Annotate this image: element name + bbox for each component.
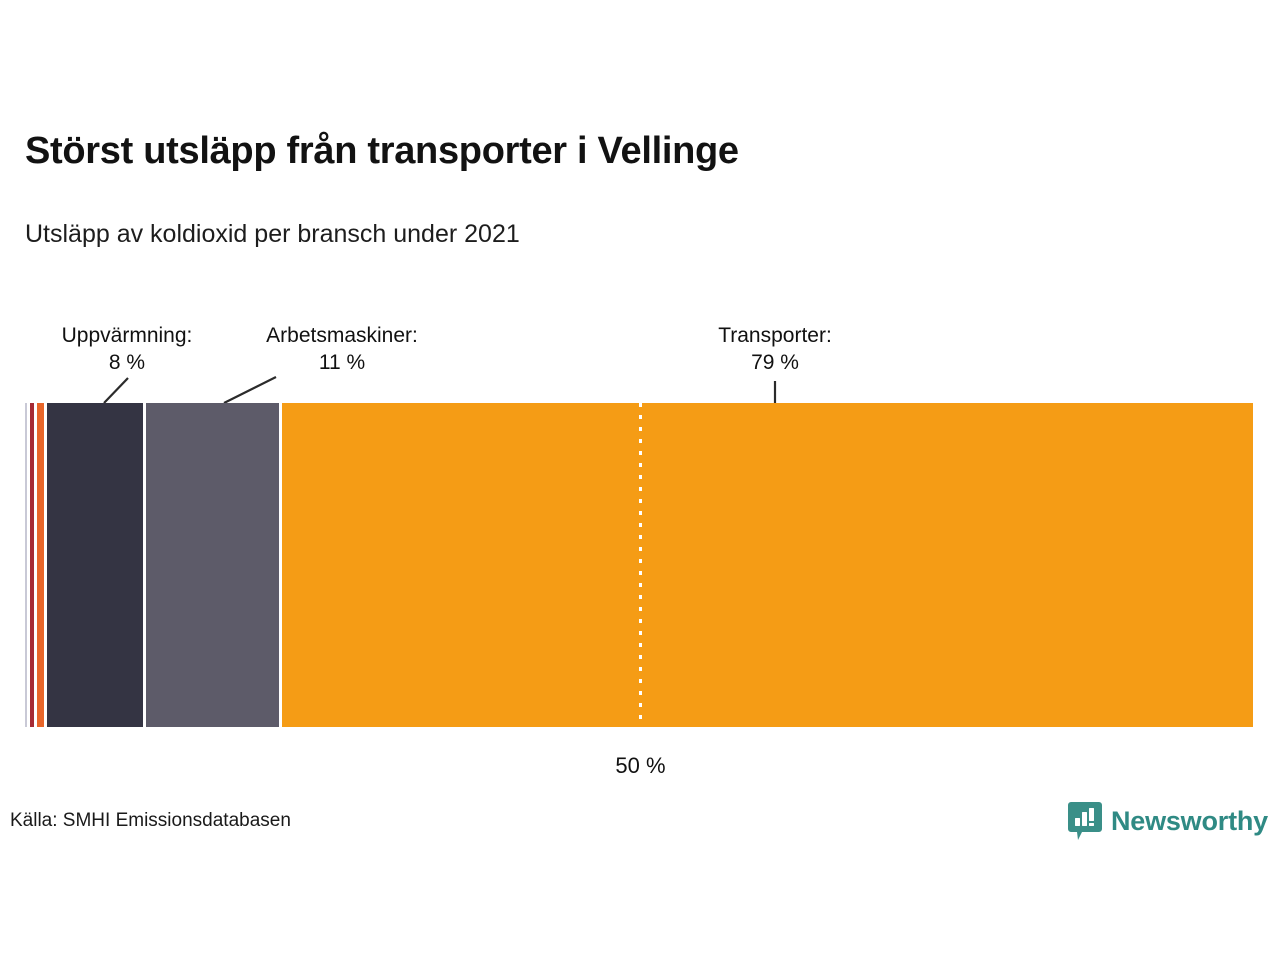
source-note: Källa: SMHI Emissionsdatabasen bbox=[10, 808, 291, 834]
annotation-arbetsmaskiner: Arbetsmaskiner: 11 % bbox=[230, 322, 454, 376]
reference-line-50 bbox=[639, 403, 642, 727]
annotation-transporter-label: Transporter: bbox=[660, 322, 890, 349]
chart-title: Störst utsläpp från transporter i Vellin… bbox=[25, 128, 1255, 174]
newsworthy-wordmark: Newsworthy bbox=[1111, 806, 1268, 837]
bar-segment-arbetsmaskiner[interactable] bbox=[146, 403, 279, 727]
chart-figure: Störst utsläpp från transporter i Vellin… bbox=[0, 0, 1280, 960]
leader-line-uppvarmning bbox=[104, 378, 128, 403]
bar-segment-uppv-rmning[interactable] bbox=[47, 403, 143, 727]
annotation-arbetsmaskiner-value: 11 % bbox=[230, 349, 454, 376]
bar-segment--vrigt-1[interactable] bbox=[25, 403, 27, 727]
bar-segment--vrigt-2[interactable] bbox=[30, 403, 34, 727]
annotation-uppvarmning: Uppvärmning: 8 % bbox=[27, 322, 227, 376]
bar-segment-transporter[interactable] bbox=[282, 403, 1253, 727]
bar-segment--vrigt-3[interactable] bbox=[37, 403, 44, 727]
newsworthy-logo: Newsworthy bbox=[1068, 798, 1268, 844]
annotation-transporter-value: 79 % bbox=[660, 349, 890, 376]
annotation-uppvarmning-label: Uppvärmning: bbox=[27, 322, 227, 349]
newsworthy-bar-chart-pin-icon bbox=[1068, 801, 1102, 841]
chart-subtitle: Utsläpp av koldioxid per bransch under 2… bbox=[25, 218, 1255, 250]
leader-line-arbetsmaskiner bbox=[224, 377, 276, 403]
reference-line-label: 50 % bbox=[581, 752, 701, 780]
annotation-transporter: Transporter: 79 % bbox=[660, 322, 890, 376]
annotation-uppvarmning-value: 8 % bbox=[27, 349, 227, 376]
annotation-arbetsmaskiner-label: Arbetsmaskiner: bbox=[230, 322, 454, 349]
